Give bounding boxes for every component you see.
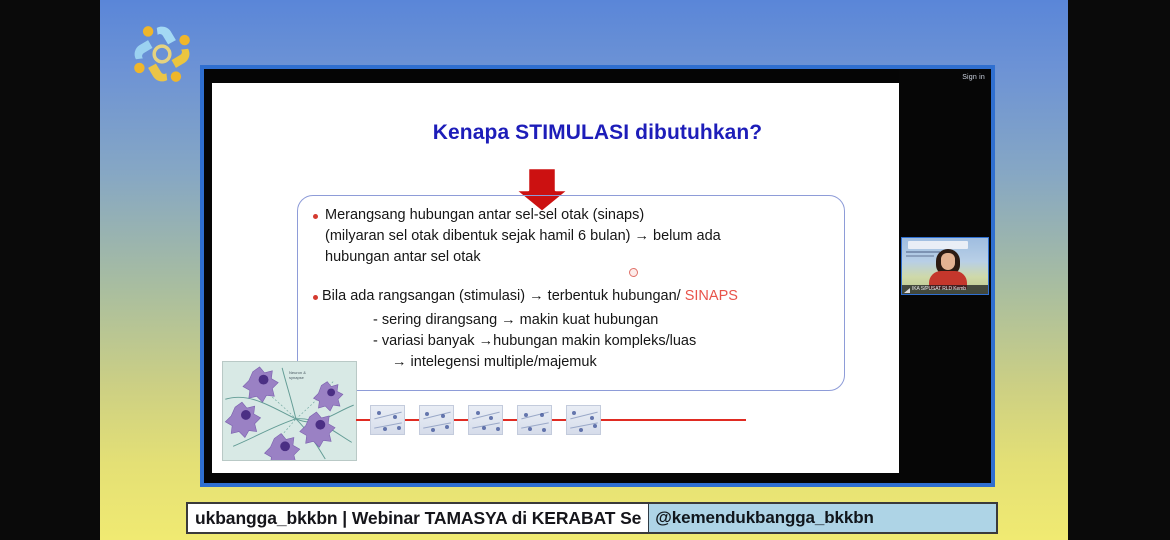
caption-primary-text: ukbangga_bkkbn | Webinar TAMASYA di KERA…	[188, 504, 648, 532]
bullet-2-lead: Bila ada rangsangan (stimulasi) → terben…	[322, 288, 738, 305]
slide-title: Kenapa STIMULASI dibutuhkan?	[212, 121, 983, 145]
synapse-development-filmstrip	[356, 403, 746, 437]
sign-in-button[interactable]: Sign in	[962, 74, 985, 81]
filmstrip-connector	[503, 419, 517, 421]
meeting-window: Kenapa STIMULASI dibutuhkan? Merangsang …	[200, 65, 995, 487]
broadcast-stage: Kenapa STIMULASI dibutuhkan? Merangsang …	[100, 0, 1068, 540]
participant-video-thumbnail[interactable]: IKA S/PUSAT RLD Kemb	[901, 237, 989, 295]
filmstrip-connector	[552, 419, 566, 421]
bullet-marker	[313, 214, 318, 219]
filmstrip-connector-tail	[601, 419, 746, 421]
laser-pointer-dot	[629, 268, 638, 277]
filmstrip-connector	[454, 419, 468, 421]
bullet-2-sub-2: - variasi banyak →hubungan makin komplek…	[373, 333, 696, 350]
filmstrip-frame	[419, 405, 454, 435]
screen-root: Kenapa STIMULASI dibutuhkan? Merangsang …	[0, 0, 1170, 540]
thumbnail-background-line	[906, 251, 940, 253]
bullet-2-sub-3: → intelegensi multiple/majemuk	[392, 354, 597, 371]
neuron-diagram-caption: Neuron &synapse	[289, 370, 306, 380]
sinaps-highlight: SINAPS	[685, 288, 738, 304]
participant-name-label: IKA S/PUSAT RLD Kemb	[912, 285, 966, 294]
filmstrip-connector	[405, 419, 419, 421]
filmstrip-frame	[468, 405, 503, 435]
bullet-1-line-1: Merangsang hubungan antar sel-sel otak (…	[325, 207, 644, 224]
presentation-slide: Kenapa STIMULASI dibutuhkan? Merangsang …	[212, 83, 983, 473]
filmstrip-frame	[566, 405, 601, 435]
thumbnail-background-line	[906, 255, 934, 257]
filmstrip-frame	[370, 405, 405, 435]
participant-sidebar: Sign in IKA S/PUSAT RLD Kemb	[899, 65, 995, 487]
caption-handle-text: @kemendukbangga_bkkbn	[648, 504, 996, 532]
mic-icon	[904, 287, 910, 293]
pillarbox-right	[1068, 0, 1170, 540]
neuron-synapse-diagram: Neuron &synapse	[222, 361, 357, 461]
bullet-1-line-2: (milyaran sel otak dibentuk sejak hamil …	[325, 228, 721, 245]
bullet-marker	[313, 295, 318, 300]
bkkbn-logo	[118, 14, 206, 94]
caption-bar: ukbangga_bkkbn | Webinar TAMASYA di KERA…	[186, 502, 998, 534]
filmstrip-connector	[356, 419, 370, 421]
participant-name-bar: IKA S/PUSAT RLD Kemb	[902, 285, 988, 294]
bullet-2-sub-1: - sering dirangsang → makin kuat hubunga…	[373, 312, 658, 329]
filmstrip-frame	[517, 405, 552, 435]
participant-face	[941, 253, 955, 270]
bullet-1-line-3: hubungan antar sel otak	[325, 249, 481, 266]
thumbnail-background-slide	[908, 241, 968, 249]
pillarbox-left	[0, 0, 100, 540]
bullet-2-lead-text: Bila ada rangsangan (stimulasi) → terben…	[322, 288, 685, 304]
